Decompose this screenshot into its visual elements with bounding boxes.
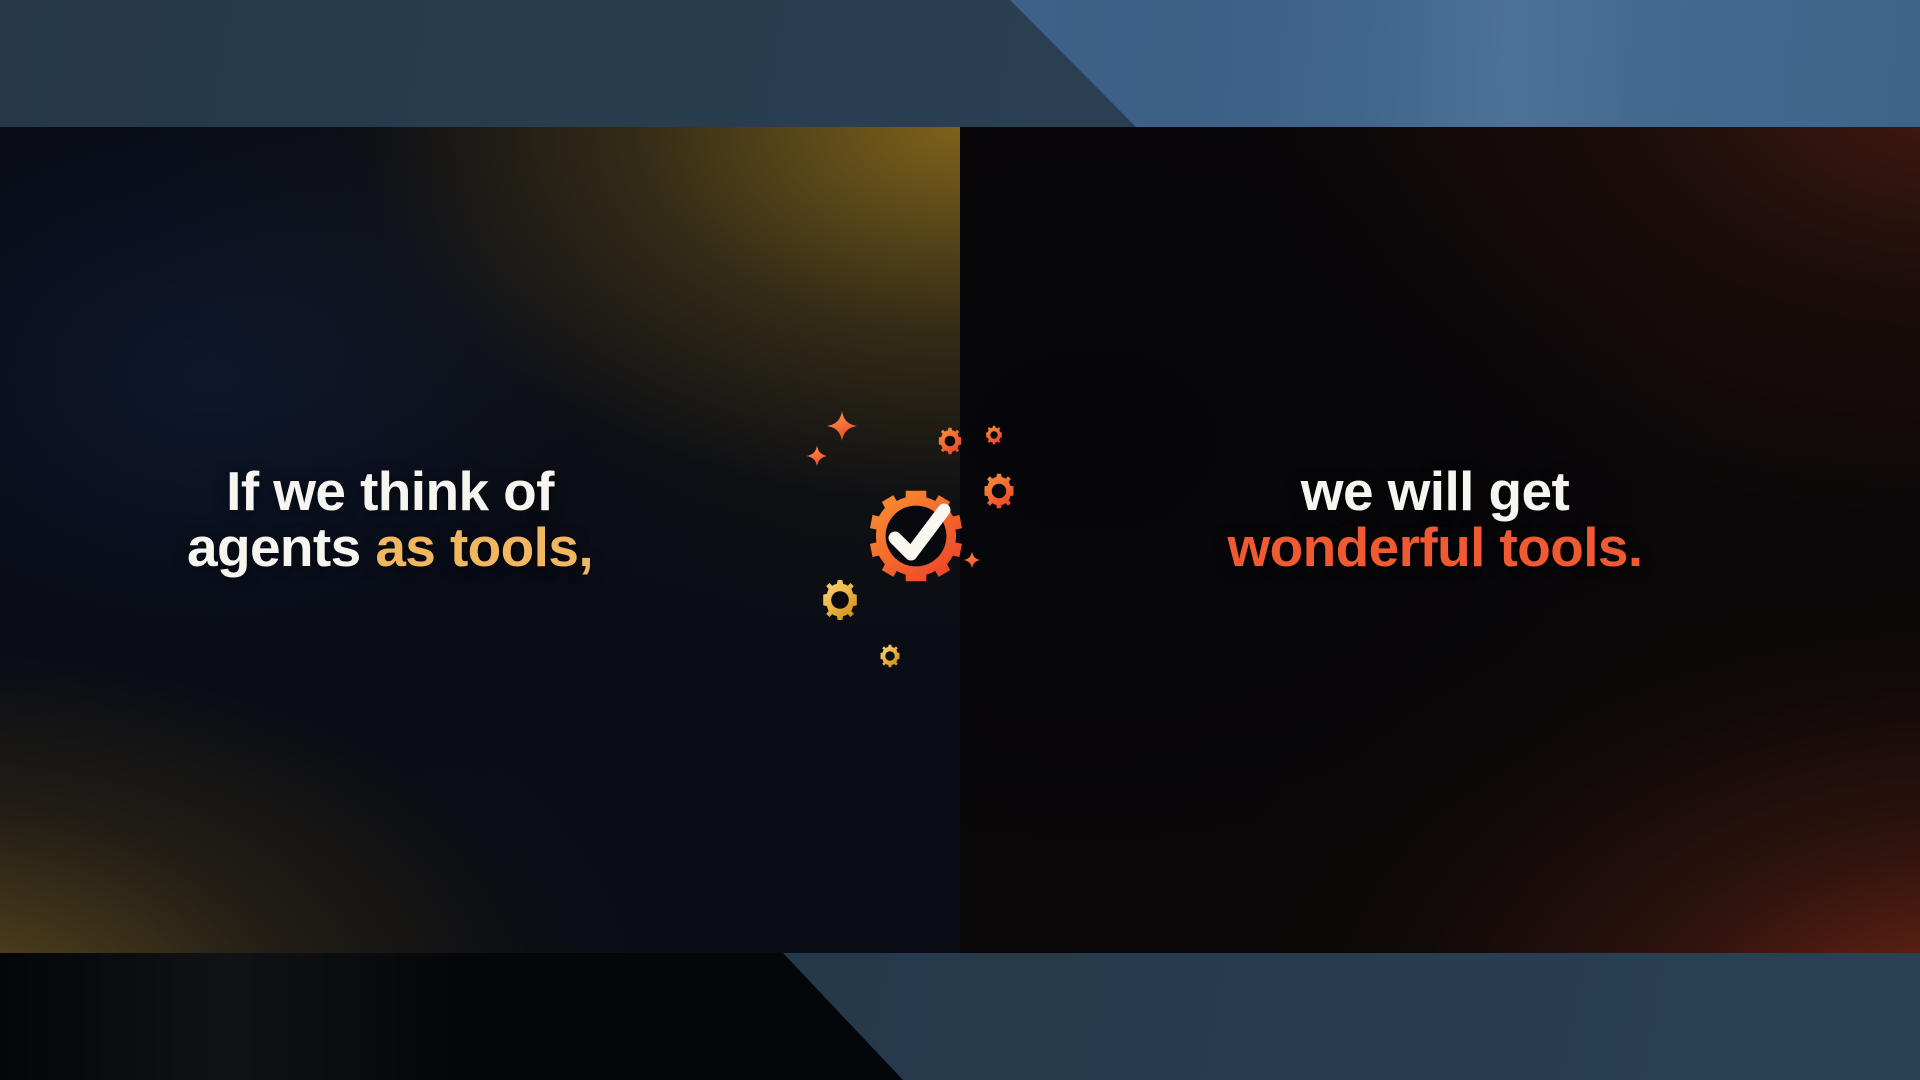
right-quote-line2-accent: wonderful tools. <box>1040 519 1830 575</box>
banner-sheen-overlay <box>0 953 1920 1080</box>
right-quote-text: we will get wonderful tools. <box>1040 463 1830 575</box>
left-quote-line2-plain: agents <box>187 516 375 578</box>
slide-canvas: If we think of agents as tools, we will … <box>0 0 1920 1080</box>
left-quote-line2: agents as tools, <box>0 519 780 575</box>
banner-sheen-overlay <box>0 0 1920 127</box>
bottom-decorative-banner <box>0 953 1920 1080</box>
left-quote-text: If we think of agents as tools, <box>0 463 780 575</box>
left-quote-line1: If we think of <box>0 463 780 519</box>
right-quote-line1: we will get <box>1040 463 1830 519</box>
left-quote-line2-accent: as tools, <box>375 516 593 578</box>
top-decorative-banner <box>0 0 1920 127</box>
